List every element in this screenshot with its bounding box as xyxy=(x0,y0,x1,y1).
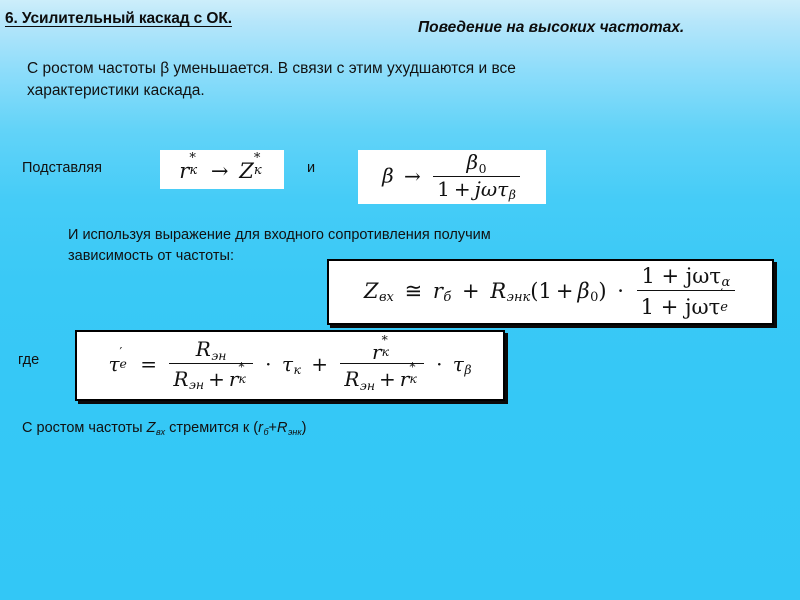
where-label: где xyxy=(18,352,39,368)
conclusion-var-R: R xyxy=(277,420,287,436)
var-Z: Z xyxy=(364,279,379,303)
slide-title-left: 6. Усилительный каскад с ОК. xyxy=(5,10,232,28)
formula-substitution-r: r*к → Z*к xyxy=(160,150,284,189)
var-R-enk: R xyxy=(490,279,506,303)
formula-tau-e-prime: τ′e = Rэн Rэн+r*к · τк + r*к Rэн+r*к · τ… xyxy=(75,330,505,401)
formula-input-impedance-expression: Zвх ≅ rб + Rэнк(1+β0) · 1 + jωτα 1 + jωτ… xyxy=(364,266,737,319)
using-line-1: И используя выражение для входного сопро… xyxy=(68,227,491,243)
beta-fraction-denominator: 1+jωτβ xyxy=(433,177,520,202)
var-tau-e-prime: τ xyxy=(108,352,119,376)
dot-operator: · xyxy=(432,352,446,376)
dot-operator: · xyxy=(613,279,628,303)
tau-fraction-1-denominator: Rэн+r*к xyxy=(169,364,252,392)
using-line-2: зависимость от частоты: xyxy=(68,248,234,264)
impedance-fraction: 1 + jωτα 1 + jωτ′e xyxy=(637,266,735,319)
equals-glyph: = xyxy=(136,352,161,376)
approx-equal-glyph: ≅ xyxy=(401,279,427,303)
formula-substitution-beta-expression: β → β0 1+jωτβ xyxy=(382,152,522,202)
formula-substitution-r-expression: r*к → Z*к xyxy=(179,157,264,182)
dot-operator: · xyxy=(261,352,275,376)
tau-fraction-2: r*к Rэн+r*к xyxy=(340,339,423,392)
beta-fraction-numerator: β0 xyxy=(433,152,520,177)
tau-fraction-2-denominator: Rэн+r*к xyxy=(340,364,423,392)
formula-input-impedance: Zвх ≅ rб + Rэнк(1+β0) · 1 + jωτα 1 + jωτ… xyxy=(327,259,774,325)
and-label: и xyxy=(307,160,315,176)
var-beta: β xyxy=(382,164,394,188)
substitute-label: Подставляя xyxy=(22,160,102,176)
tau-fraction-1: Rэн Rэн+r*к xyxy=(169,339,252,392)
Z-k-script: *к xyxy=(254,157,265,178)
formula-tau-e-prime-expression: τ′e = Rэн Rэн+r*к · τк + r*к Rэн+r*к · τ… xyxy=(108,339,471,392)
slide-canvas: 6. Усилительный каскад с ОК. Поведение н… xyxy=(0,0,800,600)
formula-substitution-beta: β → β0 1+jωτβ xyxy=(358,150,546,204)
conclusion-paragraph: С ростом частоты Zвх стремится к (rб+Rэн… xyxy=(22,420,306,437)
beta-fraction: β0 1+jωτβ xyxy=(433,152,520,202)
var-r-b: r xyxy=(433,279,443,303)
slide-title-right: Поведение на высоких частотах. xyxy=(418,19,684,37)
intro-line-2: характеристики каскада. xyxy=(27,80,772,102)
intro-paragraph: С ростом частоты β уменьшается. В связи … xyxy=(27,58,772,102)
r-k-script: *к xyxy=(189,157,200,178)
arrow-glyph: → xyxy=(207,159,233,183)
intro-line-1: С ростом частоты β уменьшается. В связи … xyxy=(27,60,516,77)
impedance-fraction-denominator: 1 + jωτ′e xyxy=(637,291,735,318)
arrow-glyph: → xyxy=(400,164,425,188)
var-r: r xyxy=(179,159,189,183)
var-Z: Z xyxy=(239,159,254,183)
